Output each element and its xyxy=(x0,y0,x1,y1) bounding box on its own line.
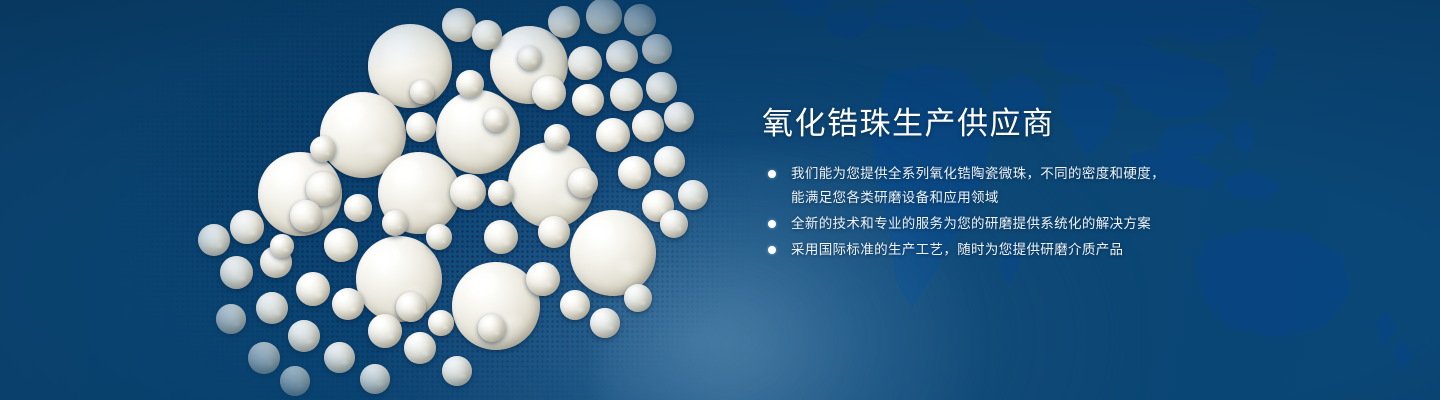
promo-banner: 氧化锆珠生产供应商 我们能为您提供全系列氧化锆陶瓷微珠，不同的密度和硬度， 能满… xyxy=(0,0,1440,400)
feature-list: 我们能为您提供全系列氧化锆陶瓷微珠，不同的密度和硬度， 能满足您各类研磨设备和应… xyxy=(762,162,1362,262)
feature-text-line-1: 我们能为您提供全系列氧化锆陶瓷微珠，不同的密度和硬度， xyxy=(791,166,1165,181)
banner-content: 氧化锆珠生产供应商 我们能为您提供全系列氧化锆陶瓷微珠，不同的密度和硬度， 能满… xyxy=(762,104,1362,264)
bullet-dot-icon xyxy=(768,170,776,178)
feature-list-item: 全新的技术和专业的服务为您的研磨提供系统化的解决方案 xyxy=(762,212,1362,236)
feature-list-item: 采用国际标准的生产工艺，随时为您提供研磨介质产品 xyxy=(762,238,1362,262)
feature-list-item: 我们能为您提供全系列氧化锆陶瓷微珠，不同的密度和硬度， 能满足您各类研磨设备和应… xyxy=(762,162,1362,210)
feature-text-line-1: 采用国际标准的生产工艺，随时为您提供研磨介质产品 xyxy=(791,242,1123,257)
banner-title: 氧化锆珠生产供应商 xyxy=(762,104,1362,144)
bullet-dot-icon xyxy=(768,246,776,254)
bullet-dot-icon xyxy=(768,220,776,228)
feature-text-line-2: 能满足您各类研磨设备和应用领域 xyxy=(791,186,1362,210)
feature-text-line-1: 全新的技术和专业的服务为您的研磨提供系统化的解决方案 xyxy=(791,216,1151,231)
